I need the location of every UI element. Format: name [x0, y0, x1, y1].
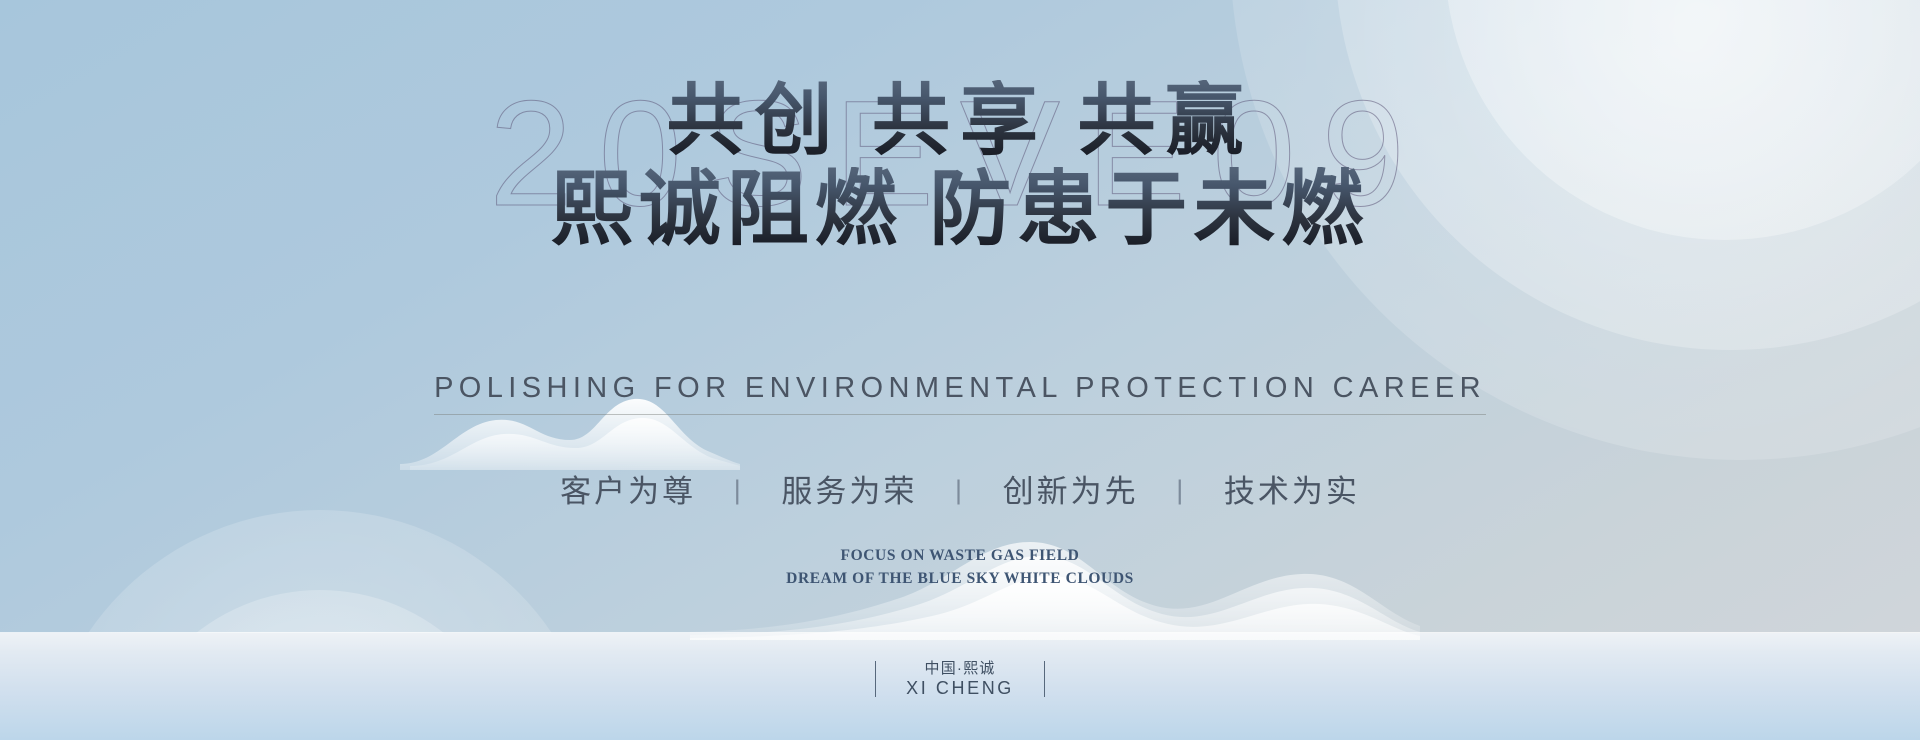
value-item-2: 服务为荣 — [781, 466, 917, 511]
headline-line-1: 共创 共享 共赢 — [0, 80, 1920, 163]
value-separator-2: | — [955, 475, 965, 506]
logo-divider-right — [1044, 661, 1045, 697]
tagline-block: POLISHING FOR ENVIRONMENTAL PROTECTION C… — [0, 372, 1920, 415]
serif-slogan-line-1: FOCUS ON WASTE GAS FIELD — [0, 545, 1920, 568]
values-row: 客户为尊 | 服务为荣 | 创新为先 | 技术为实 — [0, 466, 1920, 511]
logo-text-block: 中国·熙诚 XI CHENG — [906, 660, 1014, 699]
value-item-1: 客户为尊 — [560, 466, 696, 511]
logo-name-cn: 中国·熙诚 — [906, 660, 1014, 678]
serif-slogan-block: FOCUS ON WASTE GAS FIELD DREAM OF THE BL… — [0, 545, 1920, 590]
value-separator-1: | — [734, 475, 744, 506]
headline-block: 共创 共享 共赢 熙诚阻燃 防患于未燃 — [0, 80, 1920, 254]
tagline-english: POLISHING FOR ENVIRONMENTAL PROTECTION C… — [434, 372, 1486, 415]
hero-banner: 20SEVE09 共创 共享 共赢 熙诚阻燃 防患于未燃 POLISHING F… — [0, 0, 1920, 740]
value-item-4: 技术为实 — [1224, 466, 1360, 511]
logo-divider-left — [875, 661, 876, 697]
value-separator-3: | — [1176, 475, 1186, 506]
value-item-3: 创新为先 — [1003, 466, 1139, 511]
logo-name-en: XI CHENG — [906, 678, 1014, 699]
headline-line-2: 熙诚阻燃 防患于未燃 — [0, 167, 1920, 254]
serif-slogan-line-2: DREAM OF THE BLUE SKY WHITE CLOUDS — [0, 568, 1920, 591]
brand-logo: 中国·熙诚 XI CHENG — [0, 660, 1920, 699]
horizon-edge-line — [0, 632, 1920, 633]
